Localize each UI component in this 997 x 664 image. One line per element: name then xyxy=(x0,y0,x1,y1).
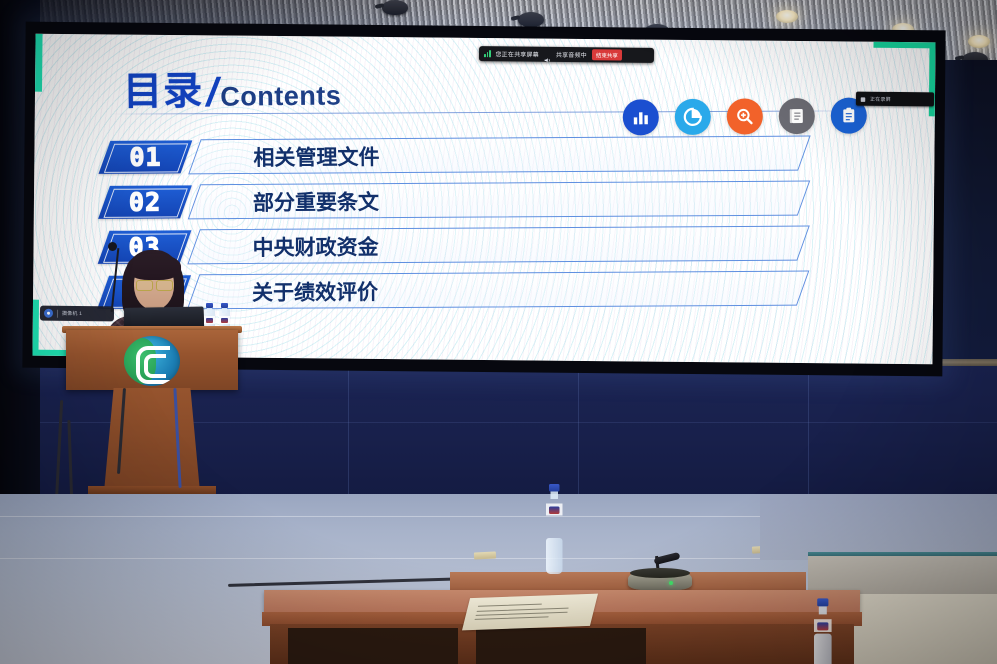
item-bar: 部分重要条文 xyxy=(188,180,811,219)
presenter-fringe xyxy=(127,254,181,280)
microphone-head-icon xyxy=(108,242,117,251)
item-number: 01 xyxy=(129,142,161,171)
microphone-status-led xyxy=(669,581,673,585)
end-share-button[interactable]: 结束共享 xyxy=(592,49,622,60)
list-item[interactable]: 01 相关管理文件 xyxy=(104,136,804,174)
item-label: 部分重要条文 xyxy=(253,184,379,218)
item-bar: 相关管理文件 xyxy=(188,135,811,174)
slide-title-cn: 目录 xyxy=(123,60,204,117)
cable-tape xyxy=(474,551,496,559)
recording-text: 正在录屏 xyxy=(870,95,891,102)
wall-seam xyxy=(578,366,579,498)
camera-eye-icon xyxy=(44,309,53,318)
screenshot-root: 目录 / Contents xyxy=(0,0,997,664)
slide-title: 目录 / Contents xyxy=(123,59,342,117)
right-side-floor xyxy=(760,494,997,560)
list-item[interactable]: 02 部分重要条文 xyxy=(104,181,804,219)
speaker-icon xyxy=(544,51,551,58)
bar-chart-icon xyxy=(623,99,659,135)
screen-share-toolbar[interactable]: 您正在共享屏幕 共享音频中 结束共享 xyxy=(479,46,654,63)
gooseneck-microphone xyxy=(111,248,120,312)
item-number-badge: 01 xyxy=(99,140,193,174)
pie-chart-icon xyxy=(675,99,711,135)
record-icon xyxy=(860,92,866,107)
item-number-badge: 02 xyxy=(98,185,192,219)
item-label: 相关管理文件 xyxy=(253,139,379,173)
signal-bars-icon xyxy=(484,50,491,57)
wall-seam xyxy=(348,366,349,498)
slide-icon-row xyxy=(623,98,867,136)
wall-seam xyxy=(808,366,809,498)
share-status-text: 您正在共享屏幕 xyxy=(495,49,538,58)
share-audio-text: 共享音频中 xyxy=(556,50,587,59)
water-bottle-under-table xyxy=(814,598,846,664)
item-number: 02 xyxy=(129,187,161,216)
globe-emblem xyxy=(124,336,180,386)
camera-label: 摄像机 1 xyxy=(62,310,82,317)
ceiling-speaker xyxy=(382,0,408,15)
item-bar: 中央财政资金 xyxy=(187,225,810,264)
presenter-glasses xyxy=(136,280,173,289)
magnifier-zoom-icon xyxy=(727,98,763,134)
ceiling-speaker xyxy=(518,12,544,27)
item-bar: 关于绩效评价 xyxy=(187,270,810,309)
table-cavity xyxy=(476,628,646,664)
badge-divider xyxy=(57,309,58,317)
water-bottle-table xyxy=(546,484,573,574)
desk-conference-microphone xyxy=(628,556,692,590)
ceiling-spotlight xyxy=(968,35,990,48)
item-label: 中央财政资金 xyxy=(252,229,378,263)
emblem-wave-mark xyxy=(144,354,166,378)
notebook-icon xyxy=(779,98,815,134)
item-label: 关于绩效评价 xyxy=(252,274,378,308)
table-cavity xyxy=(288,628,458,664)
printed-document xyxy=(462,594,598,631)
ceiling-spotlight xyxy=(776,10,798,23)
recording-indicator-bar[interactable]: 正在录屏 xyxy=(856,92,934,107)
slide-title-en: Contents xyxy=(220,81,341,116)
